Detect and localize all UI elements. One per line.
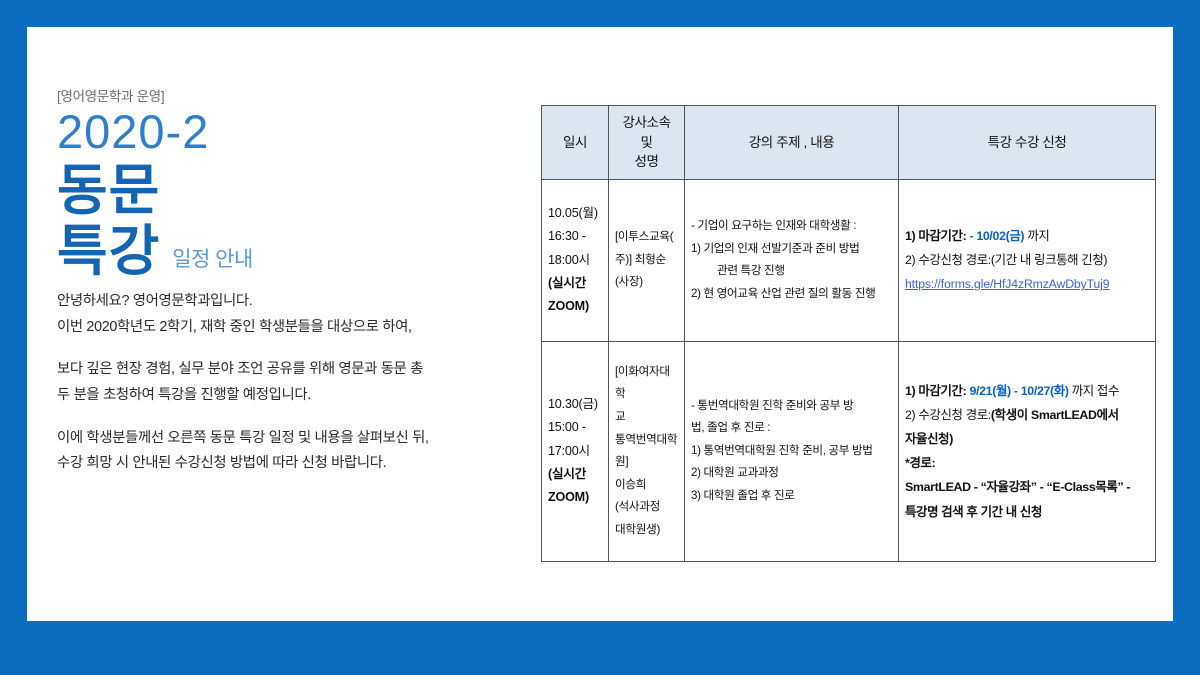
body-line: 수강 희망 시 안내된 수강신청 방법에 따라 신청 바랍니다. (57, 451, 497, 477)
cell-lecturer: [이화여자대학 교 통역번역대학 원] 이승희 (석사과정 대학원생) (609, 341, 685, 561)
date-line: 10.05(월) (548, 202, 602, 225)
topic-item: 1) 통역번역대학원 진학 준비, 공부 방법 (691, 440, 892, 463)
body-line: 안녕하세요? 영어영문학과입니다. (57, 289, 497, 315)
topic-item-cont: 관련 특강 진행 (691, 260, 892, 283)
apply-deadline-label: 1) 마감기간: (905, 229, 966, 243)
paragraph-gap (57, 340, 497, 357)
apply-deadline-tail: 까지 접수 (1072, 384, 1119, 398)
lecturer-line: 주)] 최형순 (615, 249, 678, 272)
column-header-lecturer-line2: 성명 (634, 154, 658, 169)
poster-slide: [영어영문학과 운영] 2020-2 동문 특강 일정 안내 안녕하세요? 영어… (0, 0, 1200, 675)
cell-topic: - 기업이 요구하는 인재와 대학생활 : 1) 기업의 인재 선발기준과 준비… (685, 179, 899, 341)
apply-deadline-line: 1) 마감기간: 9/21(월) - 10/27(화) 까지 접수 (905, 379, 1149, 403)
topic-item: 1) 기업의 인재 선발기준과 준비 방법 (691, 238, 892, 261)
column-header-topic: 강의 주제 , 내용 (685, 106, 899, 180)
lecturer-line: 교 (615, 406, 678, 429)
poster-title-row2: 특강 일정 안내 (57, 221, 527, 283)
lecturer-line: 원] (615, 451, 678, 474)
apply-deadline-tail: 까지 (1027, 229, 1049, 243)
apply-path-line1: SmartLEAD - “자율강좌” - “E-Class목록” - (905, 475, 1149, 499)
apply-route-value: (학생이 SmartLEAD에서 (991, 408, 1119, 422)
apply-path-line2: 특강명 검색 후 기간 내 신청 (905, 500, 1149, 524)
topic-heading: - 기업이 요구하는 인재와 대학생활 : (691, 215, 892, 238)
time-line-end: 17:00시 (548, 440, 602, 463)
topic-item: 2) 대학원 교과과정 (691, 462, 892, 485)
date-line: 10.30(금) (548, 393, 602, 416)
lecturer-line: (석사과정 (615, 496, 678, 519)
paragraph-gap (57, 409, 497, 426)
schedule-table: 일시 강사소속 및 성명 강의 주제 , 내용 특강 수강 신청 10.05(월… (541, 105, 1156, 562)
lecturer-line: (사장) (615, 271, 678, 294)
cell-topic: - 통번역대학원 진학 준비와 공부 방 법, 졸업 후 진로 : 1) 통역번… (685, 341, 899, 561)
mode-line-1: (실시간 (548, 272, 602, 295)
table-header-row: 일시 강사소속 및 성명 강의 주제 , 내용 특강 수강 신청 (542, 106, 1156, 180)
column-header-datetime: 일시 (542, 106, 609, 180)
lecturer-line: [이화여자대학 (615, 361, 678, 406)
topic-item: 2) 현 영어교육 산업 관련 질의 활동 진행 (691, 283, 892, 306)
apply-link-line: https://forms.gle/HfJ4zRmzAwDbyTuj9 (905, 272, 1149, 297)
mode-line-2: ZOOM) (548, 486, 602, 509)
apply-route-label: 2) 수강신청 경로: (905, 408, 991, 422)
department-tag: [영어영문학과 운영] (57, 85, 527, 105)
cell-apply: 1) 마감기간: - 10/02(금) 까지 2) 수강신청 경로:(기간 내 … (899, 179, 1156, 341)
body-line: 두 분을 초청하여 특강을 진행할 예정입니다. (57, 383, 497, 409)
topic-heading-line2: 법, 졸업 후 진로 : (691, 417, 892, 440)
poster-title-line1: 동문 (57, 160, 527, 222)
body-line: 이번 2020학년도 2학기, 재학 중인 학생분들을 대상으로 하여, (57, 315, 497, 341)
body-line: 보다 깊은 현장 경험, 실무 분야 조언 공유를 위해 영문과 동문 총 (57, 357, 497, 383)
poster-title-line2: 특강 (57, 221, 160, 283)
apply-path-label: *경로: (905, 451, 1149, 475)
apply-route-value-cont: 자율신청) (905, 427, 1149, 451)
apply-deadline-value: - 10/02(금) (969, 229, 1024, 243)
poster-subtitle: 일정 안내 (172, 243, 253, 283)
apply-deadline-label: 1) 마감기간: (905, 384, 966, 398)
lecturer-line: [이투스교육( (615, 226, 678, 249)
year-term: 2020-2 (57, 107, 527, 158)
mode-line-1: (실시간 (548, 463, 602, 486)
table-row: 10.05(월) 16:30 - 18:00시 (실시간 ZOOM) [이투스교… (542, 179, 1156, 341)
time-line-end: 18:00시 (548, 249, 602, 272)
lecturer-line: 통역번역대학 (615, 429, 678, 452)
time-line-start: 16:30 - (548, 225, 602, 248)
topic-item: 3) 대학원 졸업 후 진로 (691, 485, 892, 508)
apply-route-line: 2) 수강신청 경로:(학생이 SmartLEAD에서 (905, 403, 1149, 427)
lecturer-line: 대학원생) (615, 519, 678, 542)
poster-body-copy: 안녕하세요? 영어영문학과입니다. 이번 2020학년도 2학기, 재학 중인 … (57, 289, 497, 477)
apply-form-link[interactable]: https://forms.gle/HfJ4zRmzAwDbyTuj9 (905, 277, 1109, 291)
mode-line-2: ZOOM) (548, 295, 602, 318)
apply-route-label: 2) 수강신청 경로: (905, 253, 991, 267)
table-row: 10.30(금) 15:00 - 17:00시 (실시간 ZOOM) [이화여자… (542, 341, 1156, 561)
cell-apply: 1) 마감기간: 9/21(월) - 10/27(화) 까지 접수 2) 수강신… (899, 341, 1156, 561)
column-header-lecturer-line1: 강사소속 및 (622, 115, 670, 150)
topic-heading-line1: - 통번역대학원 진학 준비와 공부 방 (691, 395, 892, 418)
column-header-apply: 특강 수강 신청 (899, 106, 1156, 180)
poster-canvas: [영어영문학과 운영] 2020-2 동문 특강 일정 안내 안녕하세요? 영어… (27, 27, 1173, 621)
time-line-start: 15:00 - (548, 416, 602, 439)
poster-heading-block: [영어영문학과 운영] 2020-2 동문 특강 일정 안내 (57, 85, 527, 283)
apply-deadline-value: 9/21(월) - 10/27(화) (969, 384, 1068, 398)
apply-route-value: (기간 내 링크통해 긴청) (991, 253, 1107, 267)
apply-deadline-line: 1) 마감기간: - 10/02(금) 까지 (905, 224, 1149, 248)
cell-lecturer: [이투스교육( 주)] 최형순 (사장) (609, 179, 685, 341)
lecturer-name: 이승희 (615, 474, 678, 497)
cell-datetime: 10.05(월) 16:30 - 18:00시 (실시간 ZOOM) (542, 179, 609, 341)
cell-datetime: 10.30(금) 15:00 - 17:00시 (실시간 ZOOM) (542, 341, 609, 561)
apply-route-line: 2) 수강신청 경로:(기간 내 링크통해 긴청) (905, 248, 1149, 272)
column-header-lecturer: 강사소속 및 성명 (609, 106, 685, 180)
body-line: 이에 학생분들께선 오른쪽 동문 특강 일정 및 내용을 살펴보신 뒤, (57, 426, 497, 452)
